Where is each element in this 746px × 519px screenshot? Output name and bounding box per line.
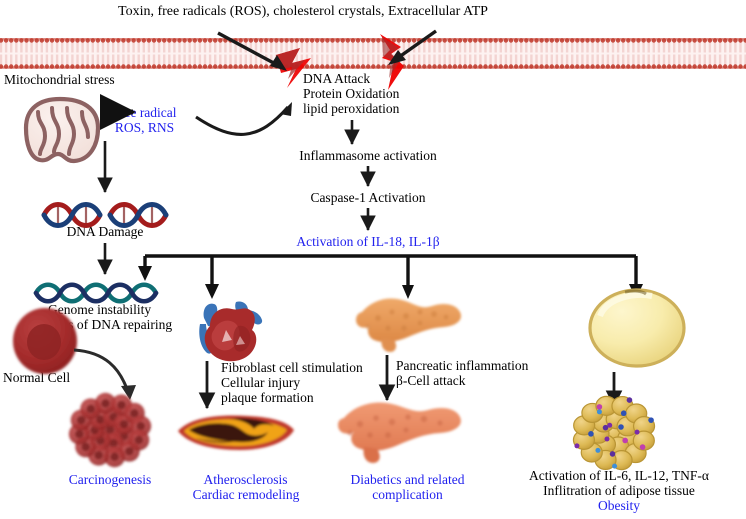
bus-arrowhead-pancreas xyxy=(402,285,414,299)
caspase-label: Caspase-1 Activation xyxy=(278,190,458,206)
dna-damage-label: DNA Damage xyxy=(45,224,165,240)
dna-attack-label-line2: Protein Oxidation xyxy=(303,86,399,102)
top-stimuli-label: Toxin, free radicals (ROS), cholesterol … xyxy=(118,4,488,20)
inflamed-pancreas-icon xyxy=(338,403,461,463)
pancreas-icon xyxy=(356,299,461,353)
arrow-normalcell-to-tumor-head xyxy=(121,385,136,400)
bus-arrowhead-genome xyxy=(138,266,152,281)
lightning-bolt-right-shade xyxy=(382,37,399,78)
fibroblast-label-line2: Cellular injury xyxy=(221,375,300,391)
membrane-bilayer xyxy=(0,38,746,69)
atherosclerosis-label-line1: Atherosclerosis xyxy=(178,472,313,488)
atherosclerosis-label-line2: Cardiac remodeling xyxy=(170,487,322,503)
lightning-bolt-left-shade xyxy=(276,48,305,79)
bus-arrowhead-heart xyxy=(205,284,219,299)
inflammasome-label: Inflammasome activation xyxy=(268,148,468,164)
diabetics-label-line2: complication xyxy=(330,487,485,503)
diabetics-label-line1: Diabetics and related xyxy=(330,472,485,488)
obesity-label-line1: Activation of IL-6, IL-12, TNF-α xyxy=(500,468,738,484)
arrow-normalcell-to-tumor xyxy=(74,350,128,392)
arrow-toxin-right xyxy=(392,31,436,62)
tumor-cell-cluster-icon xyxy=(69,393,151,467)
fibroblast-label-line1: Fibroblast cell stimulation xyxy=(221,360,363,376)
pathway-diagram: Toxin, free radicals (ROS), cholesterol … xyxy=(0,0,746,519)
genome-instability-label-line2: Loss of DNA repairing xyxy=(48,317,172,333)
free-radical-label-line1: Free radical xyxy=(97,105,192,121)
dna-attack-label-line1: DNA Attack xyxy=(303,71,370,87)
bus-arrowhead-adipocyte xyxy=(629,284,643,299)
genome-instability-label-line1: Genome instability xyxy=(48,302,151,318)
atherosclerotic-artery-icon xyxy=(178,416,294,450)
adipose-tissue-icon xyxy=(573,396,654,469)
arrow-radical-to-dnaattack-head xyxy=(280,102,292,116)
pancreatic-label-line1: Pancreatic inflammation xyxy=(396,358,528,374)
arrow-toxin-left xyxy=(218,33,283,68)
il-activation-label: Activation of IL-18, IL-1β xyxy=(268,234,468,250)
mitochondrial-stress-label: Mitochondrial stress xyxy=(4,72,115,88)
arrow-radical-to-dnaattack xyxy=(196,107,288,134)
carcinogenesis-label: Carcinogenesis xyxy=(45,472,175,488)
adipocyte-icon xyxy=(590,290,684,366)
fibroblast-label-line3: plaque formation xyxy=(221,390,314,406)
arrow-toxin-right-head xyxy=(388,50,406,65)
obesity-label-line3: Obesity xyxy=(500,498,738,514)
pancreatic-label-line2: β-Cell attack xyxy=(396,373,465,389)
arrow-toxin-left-head xyxy=(270,55,287,71)
normal-cell-label: Normal Cell xyxy=(3,370,70,386)
dna-helix-broken-icon xyxy=(44,205,166,226)
free-radical-label-line2: ROS, RNS xyxy=(97,120,192,136)
heart-icon xyxy=(199,301,262,361)
dna-helix-icon xyxy=(36,285,156,302)
distribution-bus xyxy=(145,256,636,290)
obesity-label-line2: Inflitration of adipose tissue xyxy=(500,483,738,499)
mitochondrion-icon xyxy=(26,99,98,161)
lightning-bolt-right xyxy=(380,34,404,90)
dna-attack-label-line3: lipid peroxidation xyxy=(303,101,399,117)
